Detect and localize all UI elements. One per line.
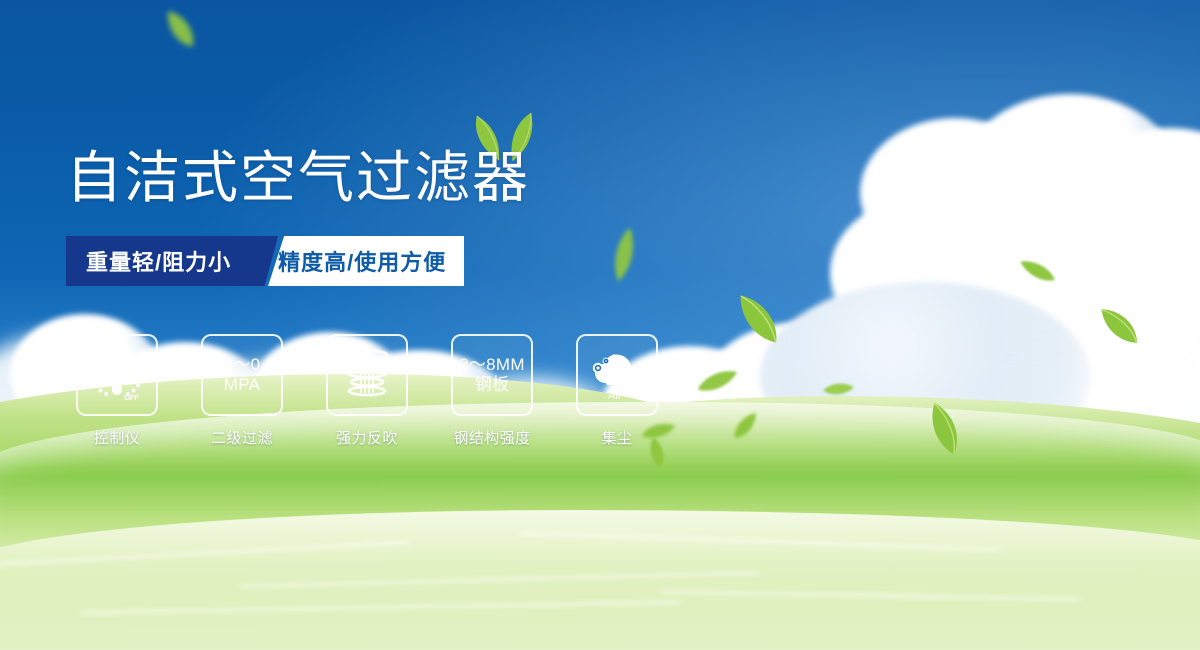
filter-stack-icon bbox=[338, 346, 396, 404]
badge-precision-convenience: 精度高/使用方便 bbox=[268, 236, 464, 286]
feature-box-pressure[interactable]: 0.6～0.8 MPA bbox=[201, 334, 283, 416]
feature-box-dust[interactable]: Air bbox=[576, 334, 658, 416]
dial-on-label: NO bbox=[89, 369, 100, 378]
steel-line-2: 钢板 bbox=[459, 375, 525, 395]
grass-foreground bbox=[0, 510, 1200, 650]
feature-label-control: 控制仪 bbox=[94, 427, 141, 448]
banner-stage: 自洁式空气过滤器 重量轻/阻力小 精度高/使用方便 bbox=[0, 0, 1200, 650]
page-title: 自洁式空气过滤器 bbox=[66, 146, 530, 210]
badge-weight-resistance: 重量轻/阻力小 bbox=[66, 236, 253, 286]
subtitle-badges: 重量轻/阻力小 精度高/使用方便 bbox=[66, 236, 464, 286]
steel-line-1: 3～8MM bbox=[459, 355, 525, 374]
feature-item-dust[interactable]: Air 集尘 bbox=[576, 334, 658, 448]
feature-label-steel: 钢结构强度 bbox=[453, 427, 531, 448]
feature-item-pressure[interactable]: 0.6～0.8 MPA 二级过滤 bbox=[201, 334, 283, 448]
dial-gauge-icon: NO OFF bbox=[86, 344, 148, 406]
feature-box-blowback[interactable] bbox=[326, 334, 408, 416]
pressure-line-1: 0.6～0.8 bbox=[209, 355, 275, 374]
feature-box-steel[interactable]: 3～8MM 钢板 bbox=[451, 334, 533, 416]
feature-label-dust: 集尘 bbox=[601, 427, 632, 448]
feature-label-blowback: 强力反吹 bbox=[336, 427, 398, 448]
air-caption: Air bbox=[608, 390, 622, 402]
dial-off-label: OFF bbox=[124, 393, 139, 402]
pressure-line-2: MPA bbox=[209, 375, 275, 395]
feature-item-blowback[interactable]: 强力反吹 bbox=[326, 334, 408, 448]
feature-icon-row: NO OFF 控制仪 0.6～0.8 MPA 二级过滤 bbox=[76, 334, 658, 448]
feature-item-control[interactable]: NO OFF 控制仪 bbox=[76, 334, 158, 448]
feature-item-steel[interactable]: 3～8MM 钢板 钢结构强度 bbox=[451, 334, 533, 448]
steel-plate-text-icon: 3～8MM 钢板 bbox=[459, 355, 525, 395]
pressure-text-icon: 0.6～0.8 MPA bbox=[209, 355, 275, 395]
feature-box-control[interactable]: NO OFF bbox=[76, 334, 158, 416]
feature-label-pressure: 二级过滤 bbox=[211, 427, 273, 448]
air-cloud-icon: Air bbox=[586, 345, 648, 405]
